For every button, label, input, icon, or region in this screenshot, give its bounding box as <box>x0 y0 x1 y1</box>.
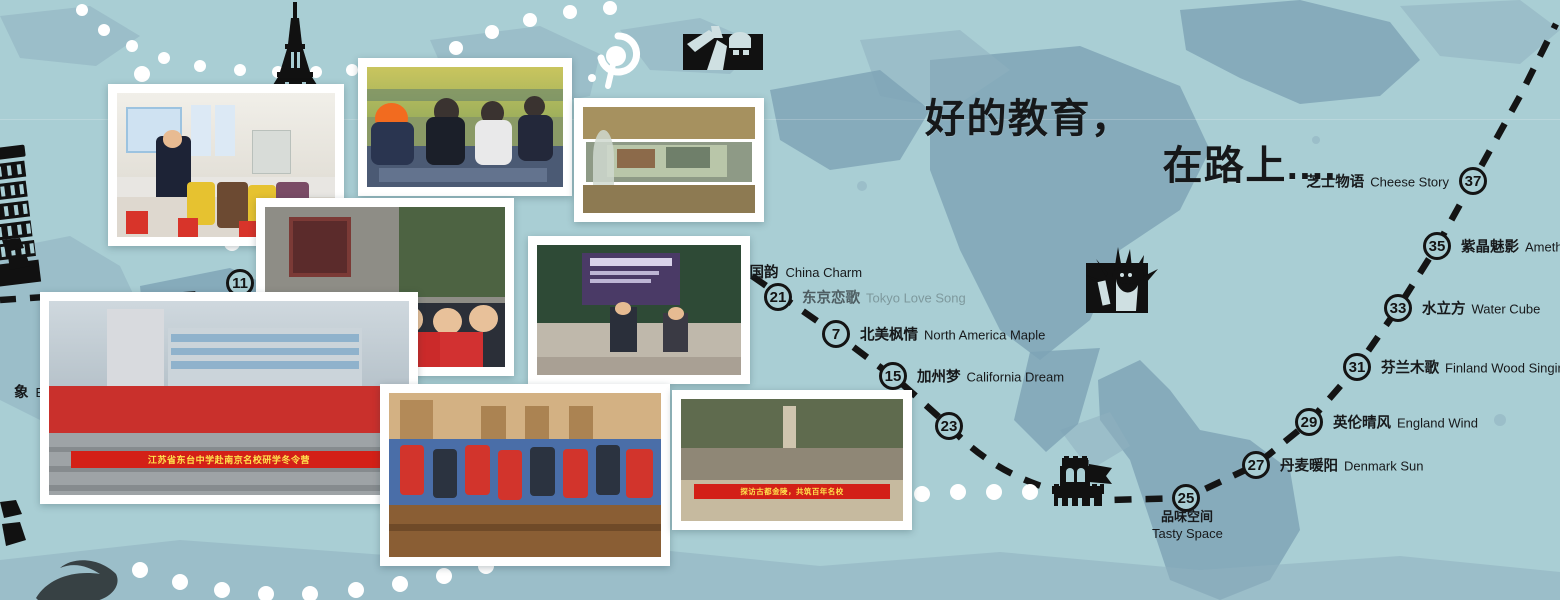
route-stop-label-en: Finland Wood Singing <box>1445 361 1560 376</box>
route-stop-number: 15 <box>879 362 907 390</box>
route-stop-label: 紫晶魅影Amethyst Ch <box>1461 236 1560 257</box>
route-stop-label-cn: 芬兰木歌 <box>1381 361 1439 377</box>
photo-caption-memorial: 探访古都金陵，共筑百年名校 <box>694 484 889 499</box>
route-stop-label-cn: 紫晶魅影 <box>1461 240 1519 256</box>
route-stop-31[interactable]: 31芬兰木歌Finland Wood Singing <box>1343 353 1371 381</box>
photo-group-stairs-banner[interactable]: 江苏省东台中学赴南京名校研学冬令营 <box>40 292 418 504</box>
route-stop-7[interactable]: 7北美枫情North America Maple <box>822 320 850 348</box>
route-stop-label-en: England Wind <box>1397 416 1478 431</box>
calligraphy-mark-icon <box>0 236 34 280</box>
route-stop-label-cn: 丹麦暖阳 <box>1280 459 1338 475</box>
route-stop-label-en: Denmark Sun <box>1344 459 1423 474</box>
eiffel-tower-icon <box>258 0 332 96</box>
route-stop-21[interactable]: 21东京恋歌Tokyo Love Song <box>764 283 792 311</box>
photo-campus-model-display[interactable] <box>574 98 764 222</box>
photo-lecture-hall-speaker[interactable] <box>528 236 750 384</box>
route-stop-number: 37 <box>1459 167 1487 195</box>
route-stop-15[interactable]: 15加州梦California Dream <box>879 362 907 390</box>
route-stop-23[interactable]: 23 <box>935 412 963 440</box>
route-stop-label-en: Cheese Story <box>1370 175 1449 190</box>
sydney-harbour-bridge-icon <box>683 24 763 70</box>
route-stop-label-cn: 英伦晴风 <box>1333 416 1391 432</box>
dolphin-silhouette-icon <box>30 556 122 600</box>
page-title: 好的教育， 在路上.... <box>925 96 1345 190</box>
route-stop-25[interactable]: 25品味空间Tasty Space <box>1172 484 1200 512</box>
route-stop-label: 北美枫情North America Maple <box>860 324 1045 345</box>
photo-auditorium-audience[interactable] <box>380 384 670 566</box>
route-stop-number: 33 <box>1384 294 1412 322</box>
route-stop-label: 加州梦California Dream <box>917 366 1064 387</box>
route-stop-label: 芝士物语Cheese Story <box>1306 171 1449 192</box>
route-stop-number: 7 <box>822 320 850 348</box>
route-stop-label-en: Tasty Space <box>1152 525 1222 542</box>
photo-students-outdoor-activity[interactable] <box>358 58 572 196</box>
route-stop-label: 东京恋歌Tokyo Love Song <box>802 287 966 308</box>
route-stop-37[interactable]: 37芝士物语Cheese Story <box>1459 167 1487 195</box>
route-stop-label-cn: 品味空间 <box>1152 508 1222 525</box>
page-title-line2: 在路上.... <box>925 143 1345 190</box>
route-stop-label-cn: 芝士物语 <box>1306 175 1364 191</box>
route-stop-label: 芬兰木歌Finland Wood Singing <box>1381 357 1560 378</box>
route-stop-number: 27 <box>1242 451 1270 479</box>
route-stop-label-cn: 加州梦 <box>917 370 961 386</box>
poster-canvas: 好的教育， 在路上.... <box>0 0 1560 600</box>
photo-caption-banner: 江苏省东台中学赴南京名校研学冬令营 <box>71 451 388 468</box>
map-free-label-cn: 象 <box>14 385 29 401</box>
route-stop-label-en: North America Maple <box>924 328 1045 343</box>
route-stop-label: 英伦晴风England Wind <box>1333 412 1478 433</box>
route-stop-27[interactable]: 27丹麦暖阳Denmark Sun <box>1242 451 1270 479</box>
route-stop-label-en: Amethyst Ch <box>1525 240 1560 255</box>
map-free-label: 中国韵China Charm <box>735 261 862 282</box>
route-stop-29[interactable]: 29英伦晴风England Wind <box>1295 408 1323 436</box>
photo-memorial-group-photo[interactable]: 探访古都金陵，共筑百年名校 <box>672 390 912 530</box>
statue-of-liberty-icon <box>1084 245 1168 313</box>
route-stop-label-en: Water Cube <box>1472 302 1541 317</box>
route-stop-number: 29 <box>1295 408 1323 436</box>
route-stop-number: 31 <box>1343 353 1371 381</box>
route-stop-label-cn: 东京恋歌 <box>802 291 860 307</box>
route-stop-label-cn: 水立方 <box>1422 302 1466 318</box>
route-stop-label: 品味空间Tasty Space <box>1152 508 1222 542</box>
route-stop-number: 35 <box>1423 232 1451 260</box>
route-stop-number: 21 <box>764 283 792 311</box>
route-stop-number: 23 <box>935 412 963 440</box>
route-stop-label-en: California Dream <box>967 370 1065 385</box>
route-stop-35[interactable]: 35紫晶魅影Amethyst Ch <box>1423 232 1451 260</box>
map-free-label-en: China Charm <box>786 265 863 280</box>
page-title-line1: 好的教育， <box>925 96 1345 143</box>
route-stop-label-en: Tokyo Love Song <box>866 291 966 306</box>
castle-fortress-icon <box>1052 454 1122 506</box>
route-stop-label-cn: 北美枫情 <box>860 328 918 344</box>
route-stop-33[interactable]: 33水立方Water Cube <box>1384 294 1412 322</box>
route-stop-label: 丹麦暖阳Denmark Sun <box>1280 455 1423 476</box>
route-stop-label: 水立方Water Cube <box>1422 298 1540 319</box>
swirl-dot-icon <box>588 30 644 97</box>
calligraphy-mark-secondary-icon <box>0 500 30 564</box>
